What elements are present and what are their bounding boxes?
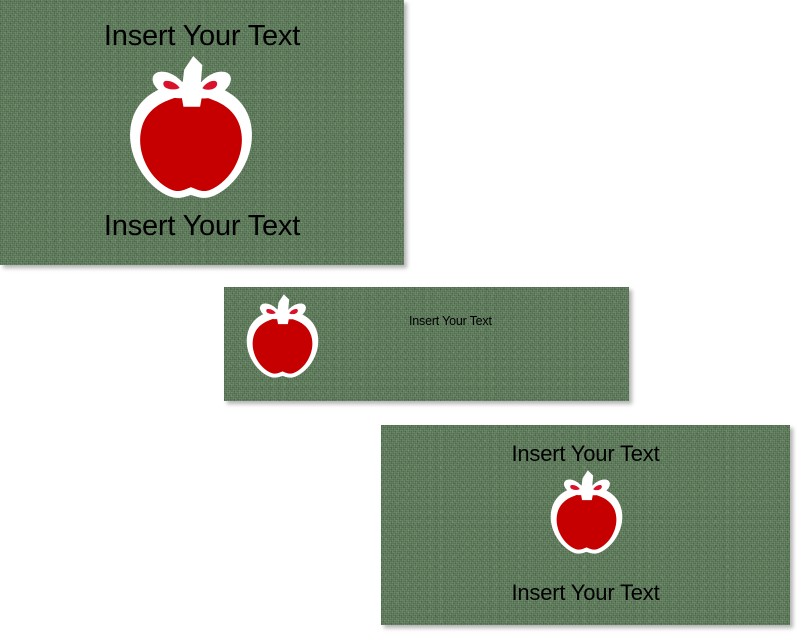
- apple-icon[interactable]: [115, 56, 267, 203]
- apple-icon[interactable]: [238, 294, 327, 381]
- banner-content-large: Insert Your Text Insert Your Text: [0, 0, 404, 265]
- caption-top-large[interactable]: Insert Your Text: [0, 22, 404, 51]
- apple-icon[interactable]: [542, 470, 631, 557]
- caption-bottom-medium[interactable]: Insert Your Text: [381, 582, 790, 604]
- banner-panel-medium[interactable]: Insert Your Text Insert Your Text: [381, 425, 790, 625]
- banner-panel-large[interactable]: Insert Your Text Insert Your Text: [0, 0, 404, 265]
- caption-bottom-large[interactable]: Insert Your Text: [0, 212, 404, 241]
- caption-top-wide[interactable]: Insert Your Text: [409, 315, 492, 328]
- banner-content-wide: Insert Your Text: [224, 287, 629, 401]
- banner-content-medium: Insert Your Text Insert Your Text: [381, 425, 790, 625]
- banner-panel-wide[interactable]: Insert Your Text: [224, 287, 629, 401]
- caption-top-medium[interactable]: Insert Your Text: [381, 443, 790, 465]
